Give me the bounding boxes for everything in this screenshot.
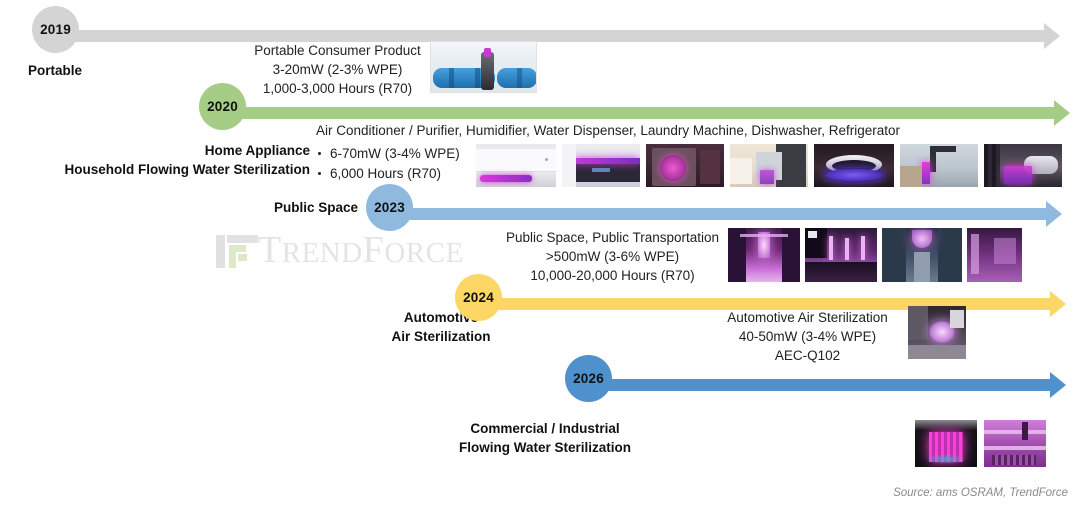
timeline-left-label-2026: Commercial / Industrial Flowing Water St… <box>420 419 670 457</box>
timeline-node-2026[interactable]: 2026 <box>565 355 612 402</box>
car-interior-sterilization-photo <box>908 306 966 359</box>
timeline-left-label-2020: Home Appliance Household Flowing Water S… <box>0 141 310 179</box>
timeline-arrow-2026 <box>608 372 1066 398</box>
timeline-year-label: 2019 <box>40 22 71 37</box>
timeline-node-2019[interactable]: 2019 <box>32 6 79 53</box>
bullet-item: 6-70mW (3-4% WPE) <box>316 144 476 164</box>
timeline-desc-2023: Public Space, Public Transportation >500… <box>505 228 720 285</box>
air-purifier-photo <box>562 144 640 187</box>
arrow-head-icon <box>1044 23 1060 49</box>
arrow-head-icon <box>1050 291 1066 317</box>
timeline-node-2024[interactable]: 2024 <box>455 274 502 321</box>
source-note: Source: ams OSRAM, TrendForce <box>893 487 1068 499</box>
trendforce-watermark: TRENDFORCE <box>216 230 464 270</box>
public-room-photo <box>967 228 1022 282</box>
dishwasher-drum-photo <box>814 144 894 187</box>
public-lobby-photo <box>805 228 877 282</box>
timeline-bullets-2020: 6-70mW (3-4% WPE) 6,000 Hours (R70) <box>316 144 476 184</box>
air-conditioner-photo <box>476 144 556 187</box>
timeline-arrow-2023 <box>400 201 1062 227</box>
arrow-bar <box>608 379 1050 391</box>
arrow-bar <box>222 107 1054 119</box>
timeline-headline-2020: Air Conditioner / Purifier, Humidifier, … <box>316 123 900 138</box>
handheld-sterilizer-photo <box>984 144 1062 187</box>
timeline-year-label: 2023 <box>374 200 405 215</box>
timeline-left-label-2023: Public Space <box>170 198 358 217</box>
arrow-head-icon <box>1054 100 1070 126</box>
faucet-sterilization-photo <box>900 144 978 187</box>
timeline-year-label: 2026 <box>573 371 604 386</box>
timeline-node-2020[interactable]: 2020 <box>199 83 246 130</box>
subway-platform-photo <box>728 228 800 282</box>
arrow-bar <box>55 30 1044 42</box>
trendforce-wordmark: TRENDFORCE <box>258 231 464 269</box>
timeline-desc-2019: Portable Consumer Product 3-20mW (2-3% W… <box>240 41 435 98</box>
industrial-water-uv-photo <box>915 420 977 467</box>
timeline-desc-2024: Automotive Air Sterilization 40-50mW (3-… <box>710 308 905 365</box>
timeline-year-label: 2024 <box>463 290 494 305</box>
timeline-infographic: 2019 Portable Portable Consumer Product … <box>0 0 1080 507</box>
arrow-bar <box>400 208 1046 220</box>
arrow-head-icon <box>1050 372 1066 398</box>
timeline-left-label-2019: Portable <box>0 61 130 80</box>
water-dispenser-photo <box>730 144 808 187</box>
trendforce-logo-icon <box>216 230 258 270</box>
portable-bottle-yoga-mat-photo <box>430 41 537 93</box>
timeline-node-2023[interactable]: 2023 <box>366 184 413 231</box>
timeline-year-label: 2020 <box>207 99 238 114</box>
timeline-arrow-2019 <box>55 23 1060 49</box>
bullet-item: 6,000 Hours (R70) <box>316 164 476 184</box>
train-interior-photo <box>882 228 962 282</box>
laundry-machine-photo <box>646 144 724 187</box>
industrial-sterilization-rack-photo <box>984 420 1046 467</box>
arrow-head-icon <box>1046 201 1062 227</box>
